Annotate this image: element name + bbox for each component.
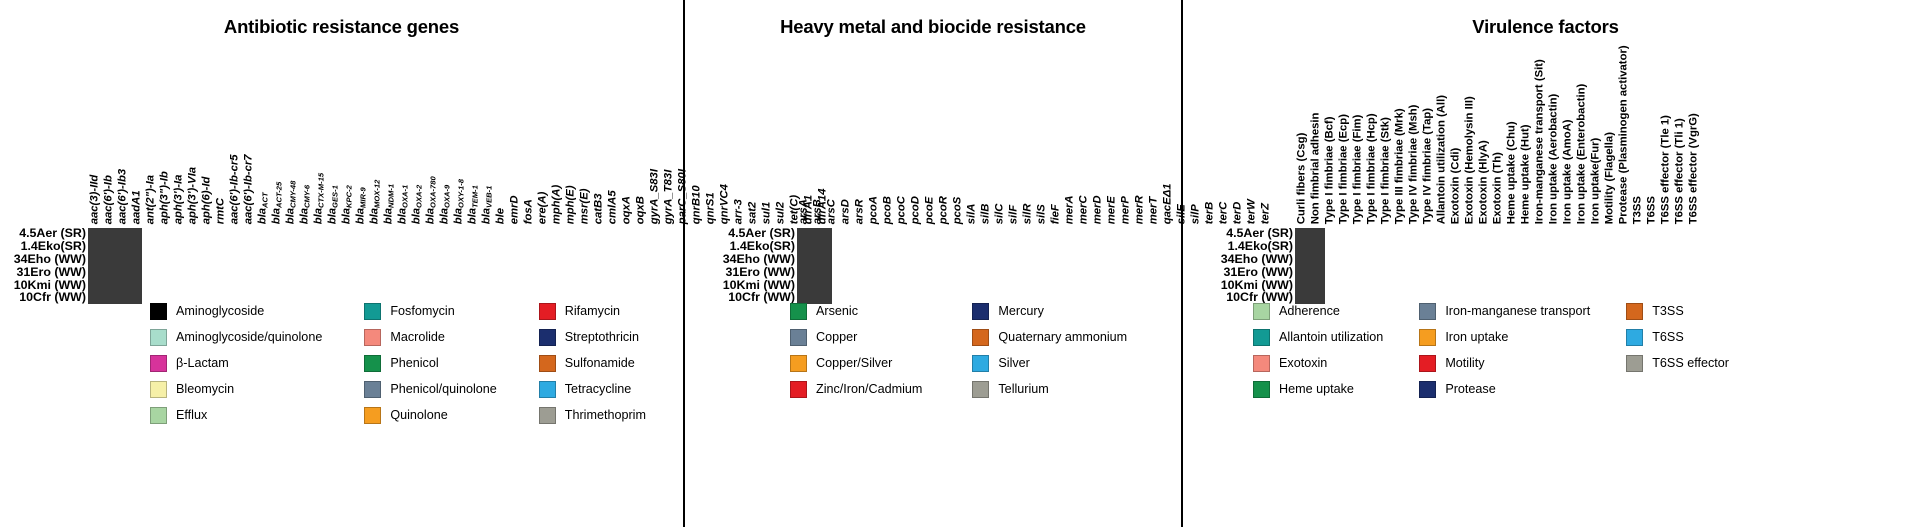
column-label: cmlA5 — [606, 50, 620, 226]
heatmap-cell — [141, 266, 142, 279]
legend-item: Rifamycin — [539, 298, 646, 324]
row-label: 34Eho (WW) — [709, 254, 795, 266]
column-label-text: silR — [1022, 203, 1033, 224]
column-label-text: pcoC — [896, 196, 907, 224]
column-label-text: blaCMY-48 — [285, 180, 296, 224]
heatmap-cell — [831, 266, 832, 279]
column-label: oqxA — [620, 50, 634, 226]
legend-label: Mercury — [998, 304, 1043, 318]
row-label: 4.5Aer (SR) — [0, 228, 86, 240]
column-label: blaTEM-1 — [466, 50, 480, 226]
legend-swatch — [539, 407, 556, 424]
legend-swatch — [1419, 355, 1436, 372]
column-label-text: oqxB — [635, 196, 646, 224]
legend-column: Iron-manganese transportIron uptakeMotil… — [1419, 298, 1590, 402]
heatmap-cell — [141, 229, 142, 242]
legend-column: FosfomycinMacrolidePhenicolPhenicol/quin… — [364, 298, 496, 428]
column-label-text: blaMIR-9 — [355, 187, 366, 224]
column-label: silF — [1007, 50, 1021, 226]
column-label-text: Exotoxin (Hemolysin III) — [1464, 96, 1475, 224]
legend-label: Efflux — [176, 408, 207, 422]
legend-item: Mercury — [972, 298, 1127, 324]
column-label-text: msr(E) — [579, 188, 590, 224]
legend-swatch — [150, 355, 167, 372]
row-label: 31Ero (WW) — [0, 267, 86, 279]
legend-swatch — [539, 303, 556, 320]
legend-item: Zinc/Iron/Cadmium — [790, 376, 922, 402]
legend-swatch — [972, 355, 989, 372]
column-label-text: pcoE — [924, 196, 935, 224]
column-label: Iron uptake (Aerobactin) — [1547, 50, 1561, 226]
column-label: blaACT-25 — [270, 50, 284, 226]
column-label: pcoE — [923, 50, 937, 226]
column-label: arsC — [825, 50, 839, 226]
column-label-text: arsD — [840, 199, 851, 224]
legend-swatch — [1626, 329, 1643, 346]
column-label-text: blaACT — [257, 192, 268, 224]
column-label-text: silA — [966, 203, 977, 224]
column-label-text: Iron uptake (AmoA) — [1562, 119, 1573, 224]
column-label: qacEΔ1 — [1161, 50, 1175, 226]
column-label-text: Type I fimbriae (Hcp) — [1366, 113, 1377, 224]
column-label: blaVEB-1 — [480, 50, 494, 226]
column-label-text: Protease (Plasminogen activator) — [1618, 45, 1629, 224]
column-label: blaACT — [256, 50, 270, 226]
column-label: pcoD — [909, 50, 923, 226]
legend-label: Motility — [1445, 356, 1484, 370]
column-label: merA — [1063, 50, 1077, 226]
column-label: silR — [1021, 50, 1035, 226]
heatmap-row — [89, 241, 142, 254]
column-label: mph(E) — [564, 50, 578, 226]
column-label-text: ble — [495, 208, 506, 224]
column-label-text: Allantoin utilization (All) — [1436, 95, 1447, 224]
legend-label: Copper/Silver — [816, 356, 892, 370]
column-label: pcoS — [951, 50, 965, 226]
legend-label: Tellurium — [998, 382, 1048, 396]
column-label-text: merE — [1106, 196, 1117, 224]
column-label-text: qacEΔ1 — [1162, 183, 1173, 224]
column-label: merP — [1119, 50, 1133, 226]
column-label-text: Curli fibers (Csg) — [1296, 132, 1307, 224]
column-label-text: pcoR — [938, 196, 949, 224]
column-label-text: merA — [1064, 195, 1075, 224]
column-label: aac(6')-Ib3 — [116, 50, 130, 226]
column-label: Type I fimbriae (Ecp) — [1337, 50, 1351, 226]
legend-swatch — [150, 329, 167, 346]
column-label: aph(3')-VIa — [186, 50, 200, 226]
legend-swatch — [364, 407, 381, 424]
row-label: 31Ero (WW) — [1207, 267, 1293, 279]
column-label: fieF — [1049, 50, 1063, 226]
legend-swatch — [972, 303, 989, 320]
column-label-text: blaACT-25 — [271, 182, 282, 225]
legend-item: Tetracycline — [539, 376, 646, 402]
legend-swatch — [1626, 303, 1643, 320]
legend-swatch — [364, 303, 381, 320]
column-label: blaOXA-780 — [424, 50, 438, 226]
column-label-text: cmlA5 — [607, 190, 618, 224]
heatmap-cell — [831, 254, 832, 267]
column-label-text: blaOXA-2 — [411, 184, 422, 224]
row-label: 4.5Aer (SR) — [1207, 228, 1293, 240]
legend-item: Exotoxin — [1253, 350, 1383, 376]
legend-item: Quinolone — [364, 402, 496, 428]
legend-column: AminoglycosideAminoglycoside/quinoloneβ-… — [150, 298, 322, 428]
column-label-text: arsA — [798, 199, 809, 224]
legend-item: Fosfomycin — [364, 298, 496, 324]
legend-column: RifamycinStreptothricinSulfonamideTetrac… — [539, 298, 646, 428]
heatmap-row — [89, 279, 142, 292]
legend-item: Iron-manganese transport — [1419, 298, 1590, 324]
legend-item: Phenicol/quinolone — [364, 376, 496, 402]
row-labels-antibiotic: 4.5Aer (SR)1.4Eko(SR)34Eho (WW)31Ero (WW… — [0, 228, 86, 305]
column-label: oqxB — [634, 50, 648, 226]
column-label-text: Type III fimbriae (Mrk) — [1394, 108, 1405, 224]
legend-label: Streptothricin — [565, 330, 639, 344]
heatmap-cell — [831, 241, 832, 254]
column-label-text: aph(3")-Ib — [159, 171, 170, 224]
legend-label: Zinc/Iron/Cadmium — [816, 382, 922, 396]
row-labels-metal: 4.5Aer (SR)1.4Eko(SR)34Eho (WW)31Ero (WW… — [709, 228, 795, 305]
legend-item: Efflux — [150, 402, 322, 428]
row-label: 10Kmi (WW) — [1207, 280, 1293, 292]
row-label: 1.4Eko(SR) — [0, 241, 86, 253]
legend-label: Copper — [816, 330, 857, 344]
column-label: rmtC — [214, 50, 228, 226]
column-label-text: merT — [1148, 196, 1159, 224]
column-label: aac(6')-Ib-cr7 — [242, 50, 256, 226]
column-label: blaKPC-2 — [340, 50, 354, 226]
legend-item: Heme uptake — [1253, 376, 1383, 402]
legend-swatch — [790, 381, 807, 398]
column-label-text: aph(3')-Ia — [173, 174, 184, 224]
column-label-text: blaCTX-M-15 — [313, 173, 324, 224]
legend-antibiotic: AminoglycosideAminoglycoside/quinoloneβ-… — [150, 298, 646, 428]
column-label-text: pcoD — [910, 196, 921, 224]
legend-item: Copper/Silver — [790, 350, 922, 376]
column-label-text: blaOXA-9 — [439, 184, 450, 224]
column-label-text: merR — [1134, 195, 1145, 224]
legend-label: Allantoin utilization — [1279, 330, 1383, 344]
panel-metal: Heavy metal and biocide resistance arsAa… — [683, 0, 1183, 527]
column-label-text: silS — [1036, 204, 1047, 224]
column-label: fosA — [522, 50, 536, 226]
column-label: pcoA — [867, 50, 881, 226]
column-label: blaCMY-48 — [284, 50, 298, 226]
row-label: 34Eho (WW) — [1207, 254, 1293, 266]
heatmap-row — [798, 254, 832, 267]
column-label: T3SS — [1631, 50, 1645, 226]
column-label: blaOXA-2 — [410, 50, 424, 226]
column-label: Type I fimbriae (Hcp) — [1365, 50, 1379, 226]
legend-item: T3SS — [1626, 298, 1729, 324]
legend-swatch — [1253, 303, 1270, 320]
legend-item: T6SS effector — [1626, 350, 1729, 376]
heatmap-grid-antibiotic — [88, 228, 142, 304]
column-label: Heme uptake (Hut) — [1519, 50, 1533, 226]
panel-virulence: Virulence factors Curli fibers (Csg)Non … — [1183, 0, 1908, 527]
column-label-text: pcoS — [952, 196, 963, 224]
column-label-text: blaCMY-6 — [299, 185, 310, 224]
legend-column: T3SST6SST6SS effector — [1626, 298, 1729, 402]
heatmap-row — [89, 229, 142, 242]
column-label: Motility (Flagella) — [1603, 50, 1617, 226]
column-label: msr(E) — [578, 50, 592, 226]
column-label-text: arsC — [826, 199, 837, 224]
column-label-text: Iron-manganese transport (Sit) — [1534, 59, 1545, 224]
column-label: aph(3')-Ia — [172, 50, 186, 226]
column-label-text: merC — [1078, 195, 1089, 224]
column-label-text: T6SS effector (Tli 1) — [1674, 118, 1685, 224]
column-label: aph(6)-Id — [200, 50, 214, 226]
heatmap-cell — [141, 291, 142, 304]
column-label-text: Non fimbrial adhesin — [1310, 112, 1321, 224]
legend-label: Arsenic — [816, 304, 858, 318]
column-label: arsA — [797, 50, 811, 226]
column-label-text: gyrA_T83I — [663, 169, 674, 224]
legend-label: Aminoglycoside/quinolone — [176, 330, 322, 344]
column-label: ant(2")-Ia — [144, 50, 158, 226]
heatmap-row — [1296, 254, 1325, 267]
legend-item: Protease — [1419, 376, 1590, 402]
column-label: arsB — [811, 50, 825, 226]
column-label-text: blaOXA-780 — [425, 176, 436, 224]
column-label: catB3 — [592, 50, 606, 226]
heatmap-cell — [1324, 266, 1325, 279]
column-label-text: silC — [994, 203, 1005, 224]
column-label-text: aac(6')-Ib3 — [117, 169, 128, 224]
column-label-text: aph(3')-VIa — [187, 167, 198, 224]
heatmap-cell — [831, 279, 832, 292]
column-label-text: Exotoxin (HlyA) — [1478, 140, 1489, 224]
row-label: 1.4Eko(SR) — [1207, 241, 1293, 253]
column-label: blaOXY-1-8 — [452, 50, 466, 226]
column-label: T6SS effector (Tli 1) — [1673, 50, 1687, 226]
legend-swatch — [790, 355, 807, 372]
heatmap-row — [1296, 279, 1325, 292]
column-label-text: blaGES-1 — [327, 185, 338, 224]
row-label: 31Ero (WW) — [709, 267, 795, 279]
legend-swatch — [539, 381, 556, 398]
column-label-text: pcoA — [868, 196, 879, 224]
legend-swatch — [1626, 355, 1643, 372]
column-label-text: Iron uptake (Enterobactin) — [1576, 83, 1587, 224]
column-label-text: aac(6')-Ib-cr7 — [243, 154, 254, 224]
column-label-text: Exotoxin (Cdi) — [1450, 147, 1461, 224]
column-label-text: rmtC — [215, 198, 226, 224]
column-label-text: blaNDM-1 — [383, 184, 394, 224]
column-label-text: Type I fimbriae (Stk) — [1380, 117, 1391, 224]
column-label: pcoR — [937, 50, 951, 226]
heatmap-row — [89, 266, 142, 279]
legend-swatch — [1419, 303, 1436, 320]
column-label-text: blaKPC-2 — [341, 185, 352, 224]
column-label-text: pcoB — [882, 196, 893, 224]
column-label-text: emrD — [509, 195, 520, 224]
column-label-text: Heme uptake (Chu) — [1506, 121, 1517, 224]
column-label: Type I fimbriae (Bcf) — [1323, 50, 1337, 226]
legend-swatch — [1419, 329, 1436, 346]
column-label: Type III fimbriae (Mrk) — [1393, 50, 1407, 226]
column-label-text: T6SS effector (VgrG) — [1688, 113, 1699, 224]
column-label: pcoC — [895, 50, 909, 226]
legend-label: β-Lactam — [176, 356, 229, 370]
legend-virulence: AdherenceAllantoin utilizationExotoxinHe… — [1253, 298, 1729, 402]
column-label-text: Type I fimbriae (Fim) — [1352, 114, 1363, 224]
heatmap-row — [798, 279, 832, 292]
column-label: blaMOX-12 — [368, 50, 382, 226]
row-label: 4.5Aer (SR) — [709, 228, 795, 240]
legend-swatch — [1253, 329, 1270, 346]
legend-label: Protease — [1445, 382, 1495, 396]
legend-column: ArsenicCopperCopper/SilverZinc/Iron/Cadm… — [790, 298, 922, 402]
column-label: silC — [993, 50, 1007, 226]
column-label: emrD — [508, 50, 522, 226]
column-label: Exotoxin (Cdi) — [1449, 50, 1463, 226]
legend-swatch — [790, 303, 807, 320]
column-label: blaOXA-1 — [396, 50, 410, 226]
legend-label: Adherence — [1279, 304, 1340, 318]
column-label-text: fosA — [523, 199, 534, 224]
legend-item: Allantoin utilization — [1253, 324, 1383, 350]
legend-item: Quaternary ammonium — [972, 324, 1127, 350]
column-label-text: silB — [980, 203, 991, 224]
legend-label: Tetracycline — [565, 382, 632, 396]
legend-swatch — [364, 381, 381, 398]
column-label: Iron-manganese transport (Sit) — [1533, 50, 1547, 226]
column-labels-virulence: Curli fibers (Csg)Non fimbrial adhesinTy… — [1295, 50, 1701, 226]
legend-item: Aminoglycoside/quinolone — [150, 324, 322, 350]
legend-item: Iron uptake — [1419, 324, 1590, 350]
column-label-text: Iron uptake(Fur) — [1590, 137, 1601, 224]
column-label: Iron uptake(Fur) — [1589, 50, 1603, 226]
heatmap-row — [798, 229, 832, 242]
column-label-text: aph(6)-Id — [201, 176, 212, 224]
legend-swatch — [364, 355, 381, 372]
legend-swatch — [1419, 381, 1436, 398]
column-label-text: Exotoxin (Th) — [1492, 152, 1503, 224]
heatmap-row — [89, 291, 142, 304]
legend-label: Exotoxin — [1279, 356, 1327, 370]
legend-item: Streptothricin — [539, 324, 646, 350]
legend-item: Arsenic — [790, 298, 922, 324]
column-label-text: Heme uptake (Hut) — [1520, 124, 1531, 224]
heatmap-grid-virulence — [1295, 228, 1325, 304]
column-label: blaNDM-1 — [382, 50, 396, 226]
column-label-text: T6SS — [1646, 196, 1657, 224]
heatmap-row — [89, 254, 142, 267]
column-label: gyrA_S83I — [648, 50, 662, 226]
column-label-text: mph(A) — [551, 184, 562, 224]
column-label-text: T6SS effector (Tle 1) — [1660, 115, 1671, 224]
column-label-text: aac(6')-Ib — [103, 175, 114, 224]
legend-label: Heme uptake — [1279, 382, 1354, 396]
panel-title-virulence: Virulence factors — [1183, 0, 1908, 38]
column-label-text: T3SS — [1632, 196, 1643, 224]
column-label: mph(A) — [550, 50, 564, 226]
heatmap-cell — [1324, 254, 1325, 267]
legend-label: Iron uptake — [1445, 330, 1508, 344]
legend-item: β-Lactam — [150, 350, 322, 376]
column-label: arsD — [839, 50, 853, 226]
column-label-text: Motility (Flagella) — [1604, 132, 1615, 224]
column-label: aac(3)-IId — [88, 50, 102, 226]
legend-swatch — [1253, 355, 1270, 372]
column-label-text: aadA1 — [131, 190, 142, 224]
column-label: blaOXA-9 — [438, 50, 452, 226]
column-label-text: mph(E) — [565, 185, 576, 224]
legend-swatch — [539, 329, 556, 346]
column-label: Iron uptake (Enterobactin) — [1575, 50, 1589, 226]
column-label: blaMIR-9 — [354, 50, 368, 226]
legend-swatch — [364, 329, 381, 346]
column-label-text: gyrA_S83I — [649, 169, 660, 224]
row-label: 10Cfr (WW) — [0, 292, 86, 304]
column-label: aadA1 — [130, 50, 144, 226]
column-label: Non fimbrial adhesin — [1309, 50, 1323, 226]
legend-label: Macrolide — [390, 330, 445, 344]
column-label: Exotoxin (Th) — [1491, 50, 1505, 226]
heatmap-cell — [141, 279, 142, 292]
legend-item: Bleomycin — [150, 376, 322, 402]
column-label: Type IV fimbriae (Tap) — [1421, 50, 1435, 226]
column-label: aac(6')-Ib — [102, 50, 116, 226]
legend-swatch — [790, 329, 807, 346]
column-label: aph(3")-Ib — [158, 50, 172, 226]
legend-swatch — [972, 381, 989, 398]
legend-label: Bleomycin — [176, 382, 234, 396]
row-labels-virulence: 4.5Aer (SR)1.4Eko(SR)34Eho (WW)31Ero (WW… — [1207, 228, 1293, 305]
column-label: merC — [1077, 50, 1091, 226]
column-label: T6SS — [1645, 50, 1659, 226]
panel-title-metal: Heavy metal and biocide resistance — [685, 0, 1181, 38]
column-label: pcoB — [881, 50, 895, 226]
column-label-text: blaOXY-1-8 — [453, 179, 464, 224]
legend-item: Silver — [972, 350, 1127, 376]
legend-metal: ArsenicCopperCopper/SilverZinc/Iron/Cadm… — [790, 298, 1127, 402]
heatmap-cell — [1324, 229, 1325, 242]
figure-root: Antibiotic resistance genes aac(3)-IIdaa… — [0, 0, 1908, 527]
legend-label: Rifamycin — [565, 304, 620, 318]
heatmap-cell — [1324, 279, 1325, 292]
column-label: T6SS effector (VgrG) — [1687, 50, 1701, 226]
column-label-text: arsB — [812, 199, 823, 224]
legend-label: Silver — [998, 356, 1030, 370]
legend-swatch — [150, 407, 167, 424]
legend-swatch — [150, 303, 167, 320]
row-label: 10Kmi (WW) — [709, 280, 795, 292]
column-label-text: blaVEB-1 — [481, 185, 492, 224]
legend-item: T6SS — [1626, 324, 1729, 350]
legend-swatch — [150, 381, 167, 398]
heatmap-row — [798, 266, 832, 279]
column-label-text: blaTEM-1 — [467, 185, 478, 224]
column-label-text: arsR — [854, 199, 865, 224]
heatmap-cell — [1324, 241, 1325, 254]
heatmap-row — [1296, 229, 1325, 242]
column-label: silS — [1035, 50, 1049, 226]
column-label: Type I fimbriae (Fim) — [1351, 50, 1365, 226]
column-label-text: catB3 — [593, 193, 604, 224]
column-label: silB — [979, 50, 993, 226]
panel-antibiotic: Antibiotic resistance genes aac(3)-IIdaa… — [0, 0, 683, 527]
panel-title-antibiotic: Antibiotic resistance genes — [0, 0, 683, 38]
legend-item: Phenicol — [364, 350, 496, 376]
heatmap-cell — [141, 241, 142, 254]
legend-item: Motility — [1419, 350, 1590, 376]
legend-item: Sulfonamide — [539, 350, 646, 376]
